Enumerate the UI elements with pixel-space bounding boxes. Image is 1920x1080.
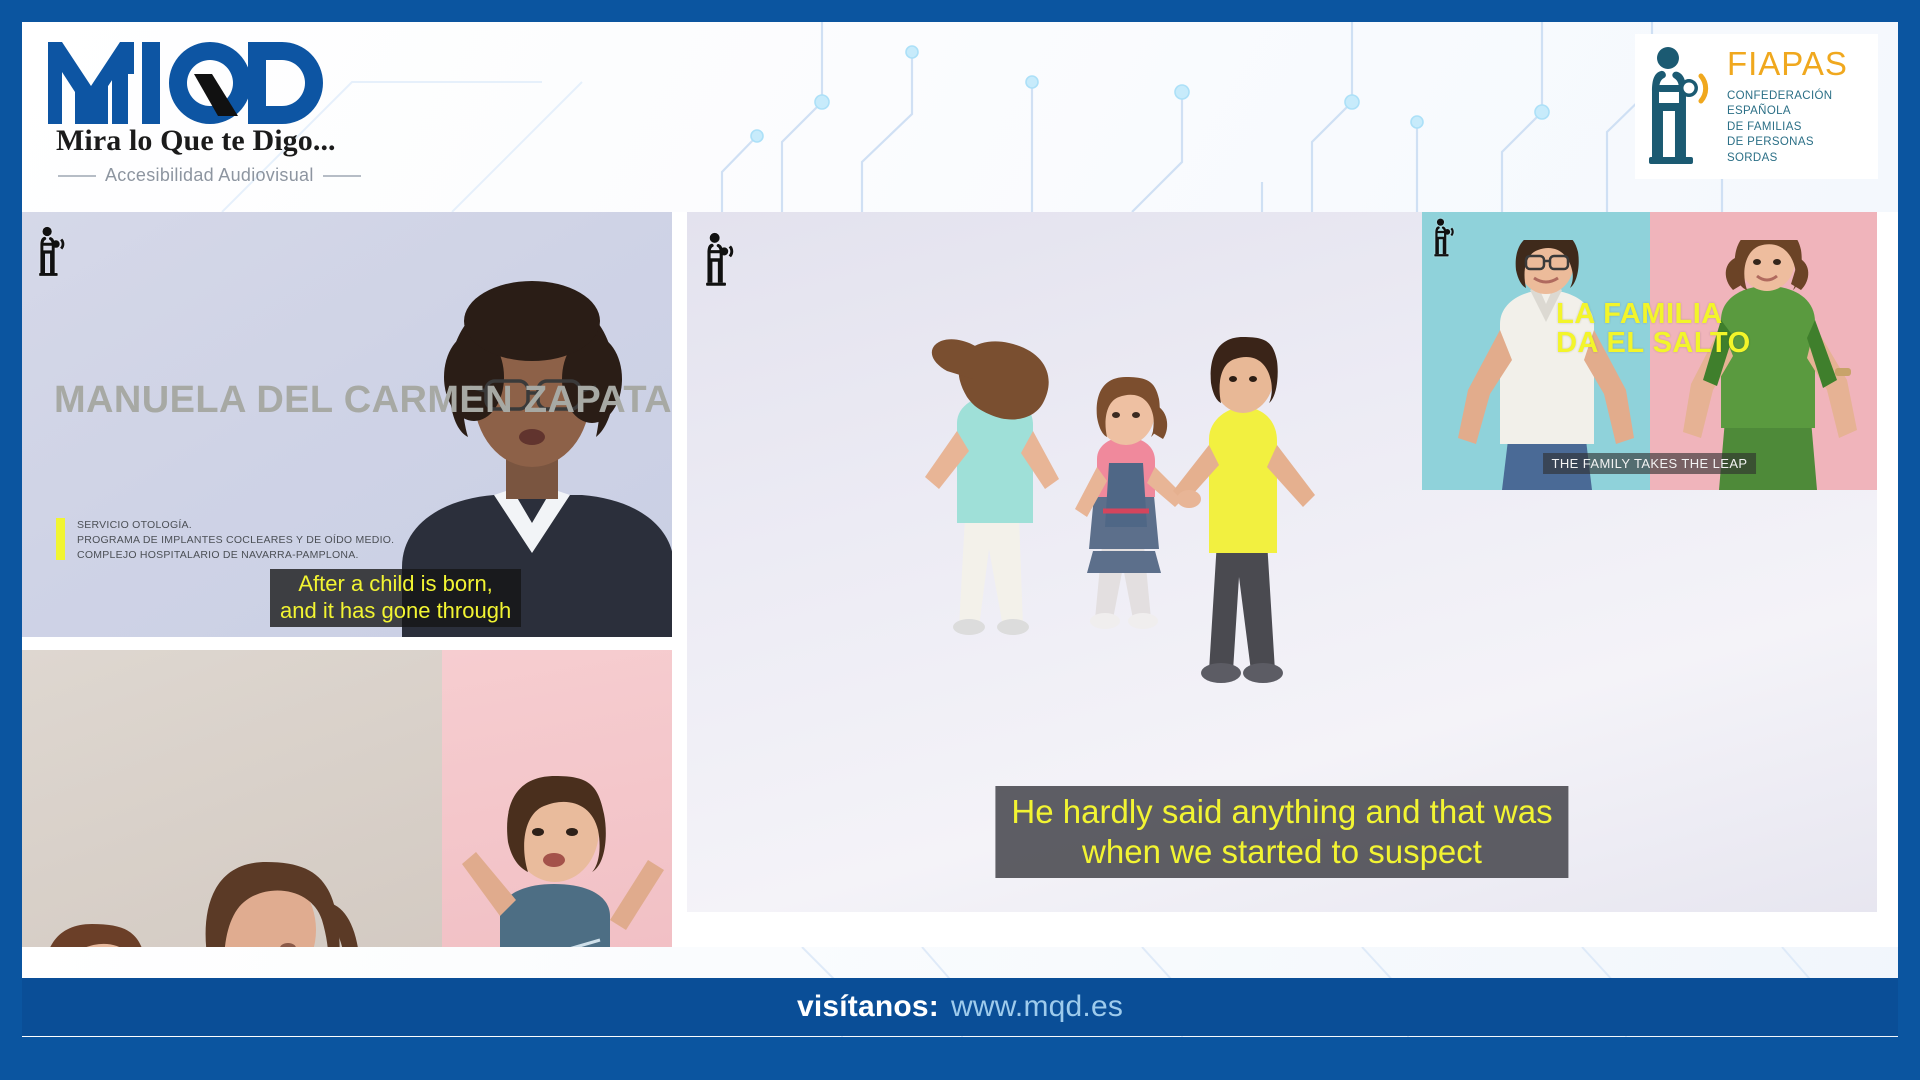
stage: Mira lo Que te Digo... Accesibilidad Aud… — [22, 22, 1898, 1037]
rule-left — [58, 175, 96, 177]
fiapas-accessibility-icon — [1432, 218, 1458, 258]
rule-right — [323, 175, 361, 177]
video-grid: MANUELA DEL CARMEN ZAPATA SERVICIO OTOLO… — [22, 212, 1898, 947]
inset-video-la-familia[interactable]: LA FAMILIA DA EL SALTO THE FAMILY TAKES … — [1422, 212, 1877, 490]
children-jumping-figures — [917, 327, 1367, 687]
video-panel-interview[interactable]: MANUELA DEL CARMEN ZAPATA SERVICIO OTOLO… — [22, 212, 672, 637]
child-left — [925, 339, 1059, 635]
brand-tagline: Mira lo Que te Digo... — [42, 124, 372, 158]
interview-credit-block: SERVICIO OTOLOGÍA. PROGRAMA DE IMPLANTES… — [56, 518, 394, 564]
fiapas-accessibility-icon — [1645, 45, 1719, 169]
presentation-frame: Mira lo Que te Digo... Accesibilidad Aud… — [0, 0, 1920, 1080]
brand-subtitle-row: Accesibilidad Audiovisual — [42, 165, 372, 186]
video-panel-main[interactable]: LA FAMILIA DA EL SALTO THE FAMILY TAKES … — [687, 212, 1877, 912]
brand-subtitle: Accesibilidad Audiovisual — [105, 165, 314, 186]
partner-text-block: FIAPAS CONFEDERACIÓN ESPAÑOLA DE FAMILIA… — [1727, 47, 1868, 166]
footer-visit-label: visítanos: — [797, 990, 939, 1024]
partner-logo-fiapas[interactable]: FIAPAS CONFEDERACIÓN ESPAÑOLA DE FAMILIA… — [1635, 34, 1878, 179]
interview-credit-text: SERVICIO OTOLOGÍA. PROGRAMA DE IMPLANTES… — [77, 518, 394, 564]
fiapas-accessibility-icon — [703, 232, 739, 288]
fiapas-accessibility-icon — [36, 226, 70, 278]
brand-logo[interactable]: Mira lo Que te Digo... Accesibilidad Aud… — [42, 36, 372, 186]
partner-description: CONFEDERACIÓN ESPAÑOLA DE FAMILIAS DE PE… — [1727, 89, 1868, 166]
child-middle — [1075, 377, 1185, 629]
caption-interview: After a child is born, and it has gone t… — [270, 569, 521, 627]
footer-url[interactable]: www.mqd.es — [951, 990, 1123, 1024]
partner-name: FIAPAS — [1727, 47, 1868, 80]
caption-main: He hardly said anything and that was whe… — [995, 786, 1568, 879]
fiapas-accessibility-icon — [36, 662, 66, 708]
header-bar: Mira lo Que te Digo... Accesibilidad Aud… — [22, 22, 1898, 212]
caption-inset: THE FAMILY TAKES THE LEAP — [1543, 453, 1757, 474]
mqd-logo-icon — [42, 36, 342, 128]
child-right — [1173, 337, 1315, 683]
inset-title: LA FAMILIA DA EL SALTO — [1556, 300, 1751, 358]
credit-accent-bar — [56, 518, 65, 560]
interview-speaker-name: MANUELA DEL CARMEN ZAPATA — [54, 380, 672, 421]
footer-bar: visítanos: www.mqd.es — [22, 978, 1898, 1036]
